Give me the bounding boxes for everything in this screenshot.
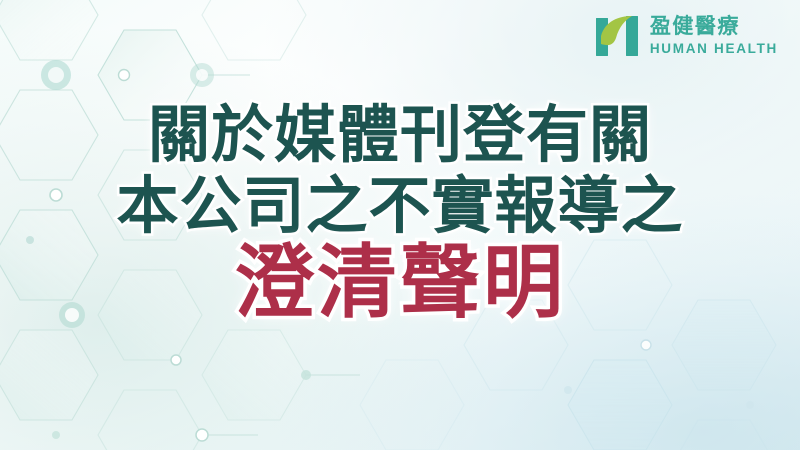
- brand-logo-text: 盈健醫療 HUMAN HEALTH: [650, 16, 778, 56]
- human-health-h-logo-icon: [595, 14, 641, 58]
- brand-name-cn: 盈健醫療: [650, 16, 778, 37]
- brand-name-en: HUMAN HEALTH: [650, 42, 778, 56]
- brand-logo: 盈健醫療 HUMAN HEALTH: [595, 14, 778, 58]
- announcement-poster: 盈健醫療 HUMAN HEALTH 關於媒體刊登有關 本公司之不實報導之 澄清聲…: [0, 0, 800, 450]
- headline-line-2: 本公司之不實報導之: [116, 175, 683, 237]
- headline-line-1: 關於媒體刊登有關: [148, 104, 652, 166]
- headline-block: 關於媒體刊登有關 本公司之不實報導之 澄清聲明: [0, 104, 800, 323]
- headline-line-3-statement: 澄清聲明: [234, 243, 566, 323]
